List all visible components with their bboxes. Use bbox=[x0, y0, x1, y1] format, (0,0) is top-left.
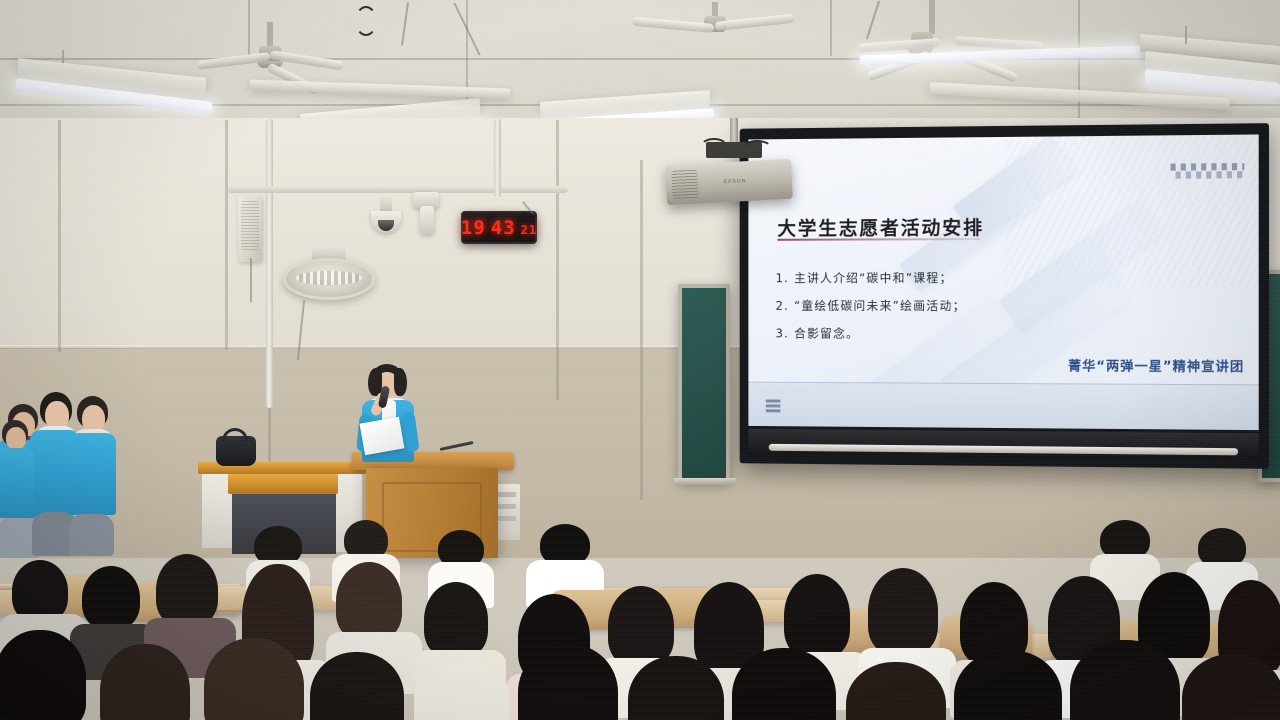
slide-bottom-band bbox=[748, 383, 1258, 430]
wall-pipe bbox=[494, 118, 501, 198]
slide-title: 大学生志愿者活动安排 bbox=[777, 213, 984, 241]
ceiling-seam bbox=[830, 0, 832, 56]
camera-mount-arm bbox=[380, 196, 392, 212]
wall-conduit bbox=[228, 186, 568, 193]
wall-mounted-fan bbox=[283, 258, 375, 300]
wall-speaker bbox=[238, 196, 262, 262]
wall-panel-line bbox=[225, 120, 228, 350]
slide-footer-org: 菁华“两弹一星”精神宣讲团 bbox=[1068, 355, 1244, 375]
audience-member bbox=[840, 662, 956, 720]
presenter bbox=[352, 364, 422, 474]
audience-member bbox=[948, 650, 1072, 720]
projection-screen: 大学生志愿者活动安排 1. 主讲人介绍“碳中和”课程； 2. “童绘低碳问未来”… bbox=[740, 123, 1269, 469]
projector-cable bbox=[700, 138, 728, 156]
speaker-cable bbox=[250, 258, 252, 302]
wall-panel-line bbox=[640, 160, 643, 500]
presenter-hair-side bbox=[394, 368, 407, 396]
clock-seconds: 21 bbox=[521, 223, 537, 237]
ceiling-fan bbox=[640, 2, 790, 48]
slide-bullet: 1. 主讲人介绍“碳中和”课程； bbox=[776, 269, 1174, 286]
audience-member bbox=[1064, 640, 1190, 720]
projector-brand-label: EPSON bbox=[724, 178, 747, 185]
audience-member bbox=[200, 638, 316, 720]
ceiling-seam bbox=[0, 58, 1280, 60]
slide-bullet: 2. “童绘低碳问未来”绘画活动； bbox=[776, 297, 1174, 314]
chalkboard-left bbox=[678, 284, 730, 482]
lecture-hall-scene: 19 43 21 大学生志愿者活动安排 1. 主讲人介绍“碳中和”课 bbox=[0, 0, 1280, 720]
wall-panel-line bbox=[58, 120, 61, 352]
ceiling-cable-loop bbox=[355, 6, 377, 36]
clock-minutes: 43 bbox=[491, 217, 516, 239]
projected-slide-area: 大学生志愿者活动安排 1. 主讲人介绍“碳中和”课程； 2. “童绘低碳问未来”… bbox=[748, 134, 1258, 430]
digital-wall-clock: 19 43 21 bbox=[461, 211, 537, 244]
chalkboard-tray bbox=[674, 478, 736, 485]
teacher-desk-front-rail bbox=[228, 474, 338, 494]
ceiling-projector: EPSON bbox=[665, 159, 793, 206]
projector-cable bbox=[742, 140, 772, 156]
camera-lens-housing bbox=[420, 206, 434, 234]
audience-member bbox=[512, 644, 630, 720]
menu-icon[interactable] bbox=[766, 399, 781, 412]
audience-member bbox=[622, 656, 734, 720]
audience-member bbox=[304, 652, 416, 720]
audience-member bbox=[408, 660, 520, 720]
audience-member bbox=[726, 648, 846, 720]
audience-member bbox=[0, 630, 100, 720]
slide-bullet-list: 1. 主讲人介绍“碳中和”课程； 2. “童绘低碳问未来”绘画活动； 3. 合影… bbox=[776, 269, 1174, 354]
presentation-slide: 大学生志愿者活动安排 1. 主讲人介绍“碳中和”课程； 2. “童绘低碳问未来”… bbox=[748, 134, 1258, 430]
light-hanger bbox=[1185, 26, 1187, 44]
audience-area bbox=[0, 520, 1280, 720]
ceiling-fan bbox=[860, 0, 1030, 80]
wall-pipe bbox=[266, 118, 273, 408]
clock-hours: 19 bbox=[461, 217, 486, 239]
volunteer-vest bbox=[67, 433, 116, 515]
audience-member bbox=[96, 644, 200, 720]
slide-bullet: 3. 合影留念。 bbox=[776, 325, 1174, 343]
wall-panel-line bbox=[556, 120, 559, 400]
ceiling-fan bbox=[210, 22, 330, 72]
audience-member bbox=[1176, 654, 1280, 720]
slide-logo-icon bbox=[1171, 163, 1245, 179]
script-paper bbox=[360, 417, 405, 455]
